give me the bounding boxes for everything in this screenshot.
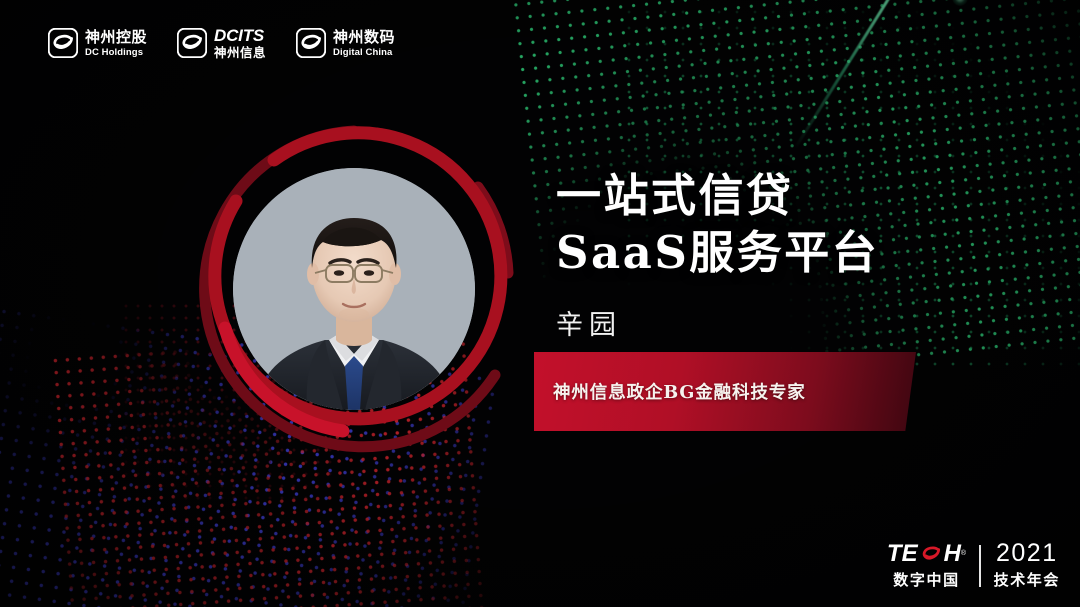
speaker-role-banner: 神州信息政企BG金融科技专家 [534, 352, 916, 431]
speaker-role-text: 神州信息政企BG金融科技专家 [553, 379, 806, 404]
logo-cn-name: 神州控股 [85, 30, 147, 45]
speaker-photo [233, 168, 475, 410]
light-streak-glow [952, 0, 968, 6]
logo-bar: 神州控股 DC Holdings DCITS 神州信息 神州数码 [48, 27, 395, 60]
title-text-block: 一站式信贷 SaaS服务平台 辛园 [556, 168, 879, 342]
logo-text-digital-china: 神州数码 Digital China [333, 30, 395, 58]
speaker-portrait-block [178, 113, 530, 465]
logo-dcits: DCITS 神州信息 [177, 27, 266, 60]
tech-letter-h: H [944, 542, 961, 566]
background-decorations [0, 0, 1080, 607]
event-badge-year: 2021 技术年会 [994, 542, 1060, 590]
logo-text-dcits: DCITS 神州信息 [214, 27, 266, 60]
event-year: 2021 [996, 541, 1058, 566]
logo-dc-holdings: 神州控股 DC Holdings [48, 28, 147, 58]
avatar [233, 168, 475, 410]
vignette-overlay [0, 0, 1080, 607]
logo-cn-subname: 神州信息 [214, 47, 266, 60]
logo-cn-name: 神州数码 [333, 30, 395, 45]
tech-letter-t: T [887, 542, 902, 566]
logo-text-dc-holdings: 神州控股 DC Holdings [85, 30, 147, 58]
year-sub-label: 技术年会 [994, 569, 1060, 590]
event-badge-brand: T E H ® 数字中国 [887, 542, 966, 590]
presentation-title-slide: 神州控股 DC Holdings DCITS 神州信息 神州数码 [0, 0, 1080, 607]
trademark-symbol: ® [961, 550, 966, 557]
swoosh-logo-icon [48, 28, 78, 58]
tech-sub-label: 数字中国 [893, 569, 959, 590]
tech-swoosh-icon [919, 543, 943, 565]
swoosh-logo-icon [296, 28, 326, 58]
logo-en-name: Digital China [333, 48, 395, 58]
page-title-line-1: 一站式信贷 [556, 168, 879, 225]
logo-digital-china: 神州数码 Digital China [296, 28, 395, 58]
logo-latin-name: DCITS [214, 27, 266, 44]
light-streak-decoration [794, 0, 908, 149]
tech-wordmark: T E H ® [887, 542, 966, 565]
year-row: 2021 [996, 542, 1058, 565]
speaker-name: 辛园 [556, 303, 879, 342]
badge-divider [979, 545, 981, 587]
swoosh-logo-icon [177, 28, 207, 58]
logo-en-name: DC Holdings [85, 48, 147, 58]
page-title-line-2: SaaS服务平台 [556, 225, 879, 282]
tech-letter-e: E [902, 542, 918, 566]
event-badge: T E H ® 数字中国 2021 技术年会 [887, 542, 1060, 590]
